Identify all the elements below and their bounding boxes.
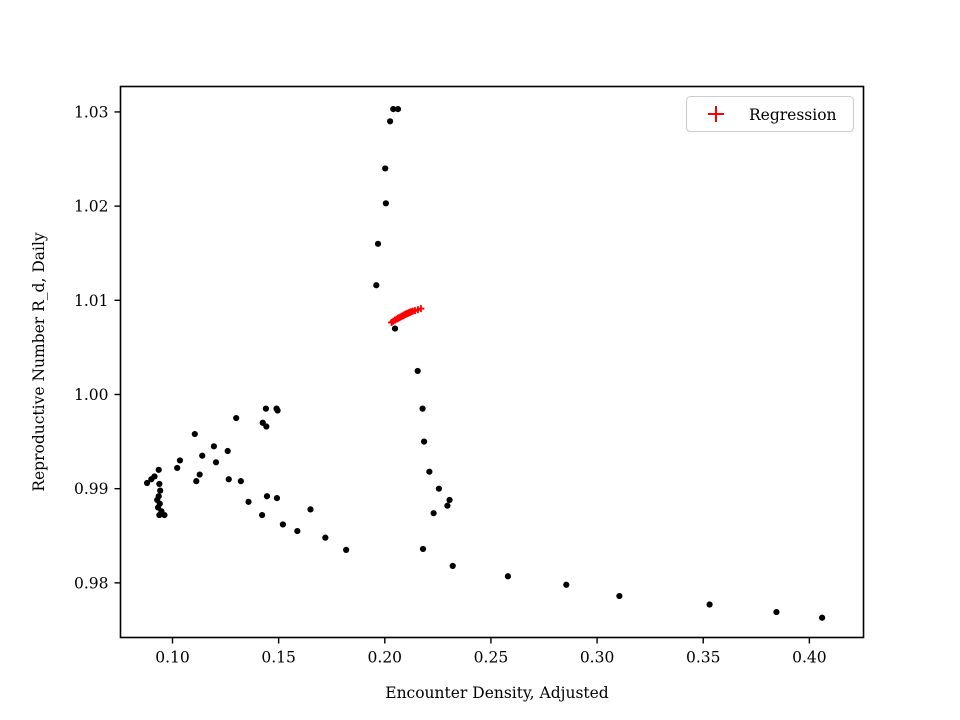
data-point [322,535,328,541]
data-point [387,118,393,124]
data-point [819,615,825,621]
data-point [395,106,401,112]
scatter-plot: 0.100.150.200.250.300.350.40 0.980.991.0… [0,0,960,720]
y-tick-label: 1.00 [74,386,109,404]
data-point [157,487,163,493]
y-tick-label: 1.01 [74,292,109,310]
data-point [192,431,198,437]
data-point [259,512,265,518]
data-point [156,467,162,473]
data-point [444,503,450,509]
data-point [382,165,388,171]
data-point [263,406,269,412]
legend-label-regression: Regression [749,106,837,124]
data-point [419,406,425,412]
data-point [431,510,437,516]
data-point [226,476,232,482]
data-point [156,481,162,487]
x-tick-label: 0.20 [368,649,403,667]
data-point [211,443,217,449]
data-point [450,563,456,569]
data-point [373,282,379,288]
data-point [177,457,183,463]
data-point [773,609,779,615]
data-point [436,486,442,492]
data-point [193,478,199,484]
data-point [144,480,150,486]
x-tick-label: 0.30 [580,649,615,667]
x-tick-label: 0.35 [686,649,721,667]
data-point [245,499,251,505]
data-point [174,465,180,471]
y-tick-label: 0.99 [74,480,109,498]
data-point [264,493,270,499]
data-point [274,407,280,413]
data-point [446,497,452,503]
x-tick-label: 0.25 [474,649,509,667]
data-point [233,415,239,421]
chart-figure: 0.100.150.200.250.300.350.40 0.980.991.0… [0,0,960,720]
data-point [375,241,381,247]
x-tick-label: 0.10 [155,649,190,667]
data-point [280,521,286,527]
x-tick-label: 0.15 [261,649,296,667]
data-point [343,547,349,553]
data-point [505,573,511,579]
data-point [706,601,712,607]
data-point [383,200,389,206]
x-axis-label: Encounter Density, Adjusted [385,684,609,702]
data-point [563,582,569,588]
data-point [199,453,205,459]
data-point [420,546,426,552]
data-point [213,459,219,465]
y-tick-label: 1.02 [74,198,109,216]
data-point [392,325,398,331]
y-tick-label: 0.98 [74,574,109,592]
y-tick-label: 1.03 [74,103,109,121]
data-point [274,495,280,501]
legend: Regression [687,97,854,132]
data-point [616,593,622,599]
data-point [197,471,203,477]
data-point [161,512,167,518]
data-point [421,438,427,444]
y-axis-label: Reproductive Number R_d, Daily [30,232,48,492]
data-point [307,506,313,512]
x-tick-label: 0.40 [792,649,827,667]
data-point [415,368,421,374]
data-point [225,448,231,454]
data-point [238,478,244,484]
data-point [426,469,432,475]
data-point [294,528,300,534]
data-point [263,423,269,429]
